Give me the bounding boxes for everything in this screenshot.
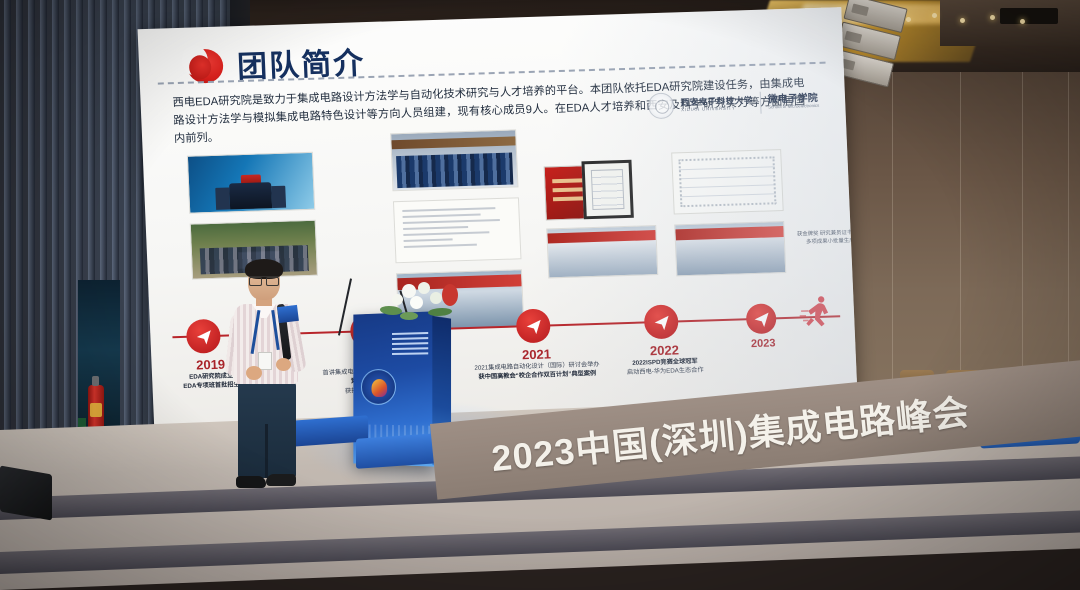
presenter-hand-right	[276, 358, 291, 371]
timeline-node-2019	[186, 319, 221, 354]
presenter-shoe-right	[266, 474, 296, 486]
wide-certificate	[671, 149, 784, 214]
university-logo-group: 西安电子科技大学 XIDIAN UNIVERSITY 微电子学院 School …	[647, 88, 819, 119]
presenter	[222, 262, 314, 494]
summit-emblem-icon	[361, 369, 396, 405]
timeline-desc-2021: 2021集成电路自动化设计（国际）研讨会举办 获中国高教会“校企合作双百计划”典…	[470, 360, 605, 383]
timeline-item-2023: 2023	[717, 334, 810, 351]
microphone-flag	[277, 305, 299, 323]
timeline-item-2021: 2021 2021集成电路自动化设计（国际）研讨会举办 获中国高教会“校企合作双…	[469, 343, 604, 383]
stage-monitor-left	[0, 465, 52, 520]
glasses-icon	[249, 276, 279, 283]
team-group-photo	[390, 129, 518, 191]
university-name: 西安电子科技大学 XIDIAN UNIVERSITY	[681, 96, 754, 113]
university-seal-icon	[647, 92, 674, 119]
lectern-text-panel	[392, 332, 428, 355]
runner-icon	[797, 293, 837, 338]
timeline-node-2021	[516, 308, 551, 343]
university-name-en: XIDIAN UNIVERSITY	[681, 105, 753, 112]
red-circle-logo-icon	[186, 49, 223, 84]
timeline-node-2022	[644, 304, 679, 339]
presenter-trousers	[238, 380, 296, 478]
timeline-desc-2022: 2022ISPD竞赛全球冠军 启动西电-华为EDA生态合作	[600, 356, 731, 379]
photo-annotation: 获金牌奖 研究兼员证书并引进 多项成果小批量生产线	[797, 228, 859, 247]
school-name-en: School of Microelectronics	[768, 104, 819, 110]
timeline-2022-line1: 2022ISPD竞赛全球冠军	[632, 358, 698, 367]
school-name: 微电子学院 School of Microelectronics	[768, 93, 820, 110]
logo-divider	[759, 92, 761, 114]
timeline-item-2022: 2022 2022ISPD竞赛全球冠军 启动西电-华为EDA生态合作	[599, 339, 730, 379]
presenter-hand-left	[246, 366, 262, 380]
stage-block-front	[356, 433, 438, 469]
framed-certificate	[581, 160, 633, 220]
timeline-year-2023: 2023	[717, 336, 809, 351]
presenter-shoe-left	[236, 476, 266, 488]
timeline-2022-line2: 启动西电-华为EDA生态合作	[627, 367, 704, 376]
conference-group-photo-2	[674, 221, 786, 276]
timeline-2021-line2: 获中国高教会“校企合作双百计划”典型案例	[478, 370, 596, 381]
flower-arrangement	[372, 282, 464, 334]
signing-ceremony-photo	[187, 152, 315, 214]
conference-stage-scene: 团队简介 西电EDA研究院是致力于集成电路设计方法学与自动化技术研究与人才培养的…	[0, 0, 1080, 590]
timeline-node-2023	[746, 303, 777, 334]
presenter-badge	[258, 352, 272, 370]
conference-group-photo-1	[546, 225, 658, 278]
handwritten-document-photo	[393, 197, 522, 263]
